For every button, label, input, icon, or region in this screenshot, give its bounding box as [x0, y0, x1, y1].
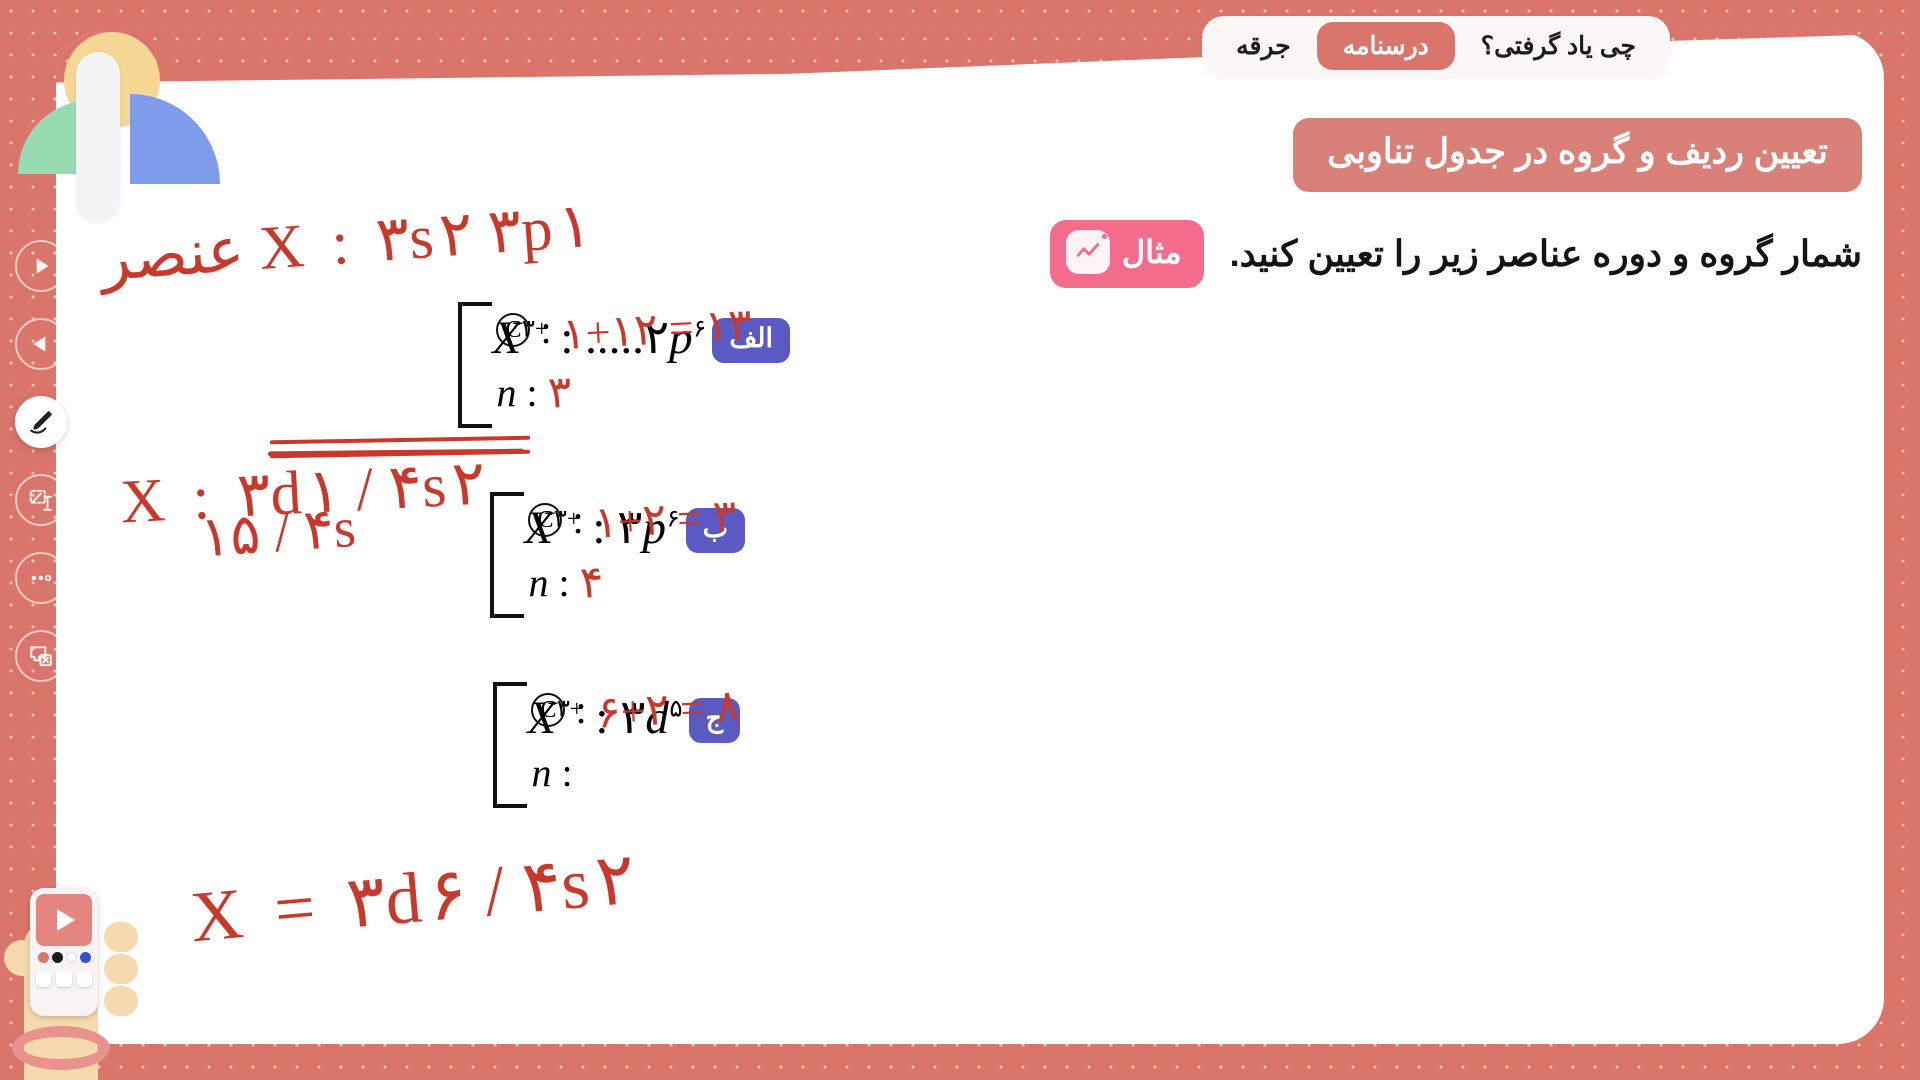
play-back-icon [28, 331, 54, 357]
group-symbol-icon: C [528, 503, 562, 537]
finger [104, 954, 138, 984]
colon: : [561, 749, 572, 796]
answer-rows: C: ۶+۲ = ۸ n: [531, 678, 739, 804]
period-answer-handwritten: ۳ [546, 366, 572, 418]
tab-lesson[interactable]: درسنامه [1317, 22, 1455, 70]
period-symbol: n [528, 559, 548, 606]
eraser-board-button[interactable] [15, 474, 67, 526]
answer-rows: C: ۱+۲ = ۳ n: ۴ [528, 488, 736, 614]
eraser-board-icon [28, 487, 54, 513]
colon: : [526, 369, 537, 416]
cast-screen-button[interactable] [15, 630, 67, 682]
period-answer-handwritten: ۴ [578, 556, 604, 608]
colon: : [558, 559, 569, 606]
pen-tool-button[interactable] [15, 396, 67, 448]
previous-slide-button[interactable] [15, 318, 67, 370]
finger [104, 922, 138, 952]
tool-rail [0, 0, 82, 1080]
play-icon [28, 253, 54, 279]
period-symbol: n [496, 369, 516, 416]
period-symbol: n [531, 749, 551, 796]
tab-spark[interactable]: جرقه [1210, 22, 1317, 70]
answer-row-group: C: ۱+۲ = ۳ [528, 488, 736, 551]
pen-icon [28, 409, 54, 435]
chart-wave-icon [1066, 230, 1110, 274]
answer-rows: C: ۱+۱۲ = ۱۳ n: ۳ [496, 298, 751, 424]
group-answer-handwritten: ۱+۲ = ۳ [592, 490, 737, 548]
answer-bracket: C: ۶+۲ = ۸ n: [493, 682, 527, 808]
answer-row-group: C: ۶+۲ = ۸ [531, 678, 739, 741]
next-slide-button[interactable] [15, 240, 67, 292]
question-text: شمار گروه و دوره عناصر زیر را تعیین کنید… [1230, 233, 1862, 275]
group-answer-handwritten: ۱+۱۲ = ۱۳ [560, 299, 752, 360]
answer-bracket: C: ۱+۲ = ۳ n: ۴ [490, 492, 524, 618]
answer-row-period: n: [531, 741, 739, 804]
tab-bar: چی یاد گرفتی؟ درسنامه جرقه [1202, 16, 1670, 76]
colon: : [572, 496, 583, 543]
problem-be: ب X۳+ : ۳p۶ C: ۱+۲ = ۳ n: ۴ [482, 490, 745, 618]
vertical-scrollbar[interactable] [76, 52, 120, 222]
group-symbol-icon: C [531, 693, 565, 727]
example-badge: مثال [1050, 220, 1204, 288]
answer-row-period: n: ۴ [528, 551, 736, 614]
lesson-title-banner: تعیین ردیف و گروه در جدول تناوبی [1293, 118, 1862, 192]
colon: : [575, 686, 586, 733]
ellipsis-icon [28, 565, 54, 591]
problem-jim: ج X۳+ : ۳d۵ C: ۶+۲ = ۸ n: [485, 680, 740, 808]
group-answer-handwritten: ۶+۲ = ۸ [595, 680, 740, 738]
answer-row-period: n: ۳ [496, 361, 751, 424]
sparkle-icon [96, 868, 122, 894]
example-badge-label: مثال [1122, 233, 1182, 271]
finger [104, 986, 138, 1016]
answer-bracket: C: ۱+۱۲ = ۱۳ n: ۳ [458, 302, 492, 428]
colon: : [540, 306, 551, 353]
group-symbol-icon: C [496, 313, 530, 347]
problem-alef: الف X۳+ : .....۲p۶ C: ۱+۱۲ = ۱۳ n: ۳ [450, 300, 790, 428]
question-row: شمار گروه و دوره عناصر زیر را تعیین کنید… [1050, 220, 1862, 288]
more-options-button[interactable] [15, 552, 67, 604]
answer-row-group: C: ۱+۱۲ = ۱۳ [496, 298, 751, 361]
tab-what-did-you-learn[interactable]: چی یاد گرفتی؟ [1455, 22, 1662, 70]
screen-cast-icon [28, 643, 54, 669]
